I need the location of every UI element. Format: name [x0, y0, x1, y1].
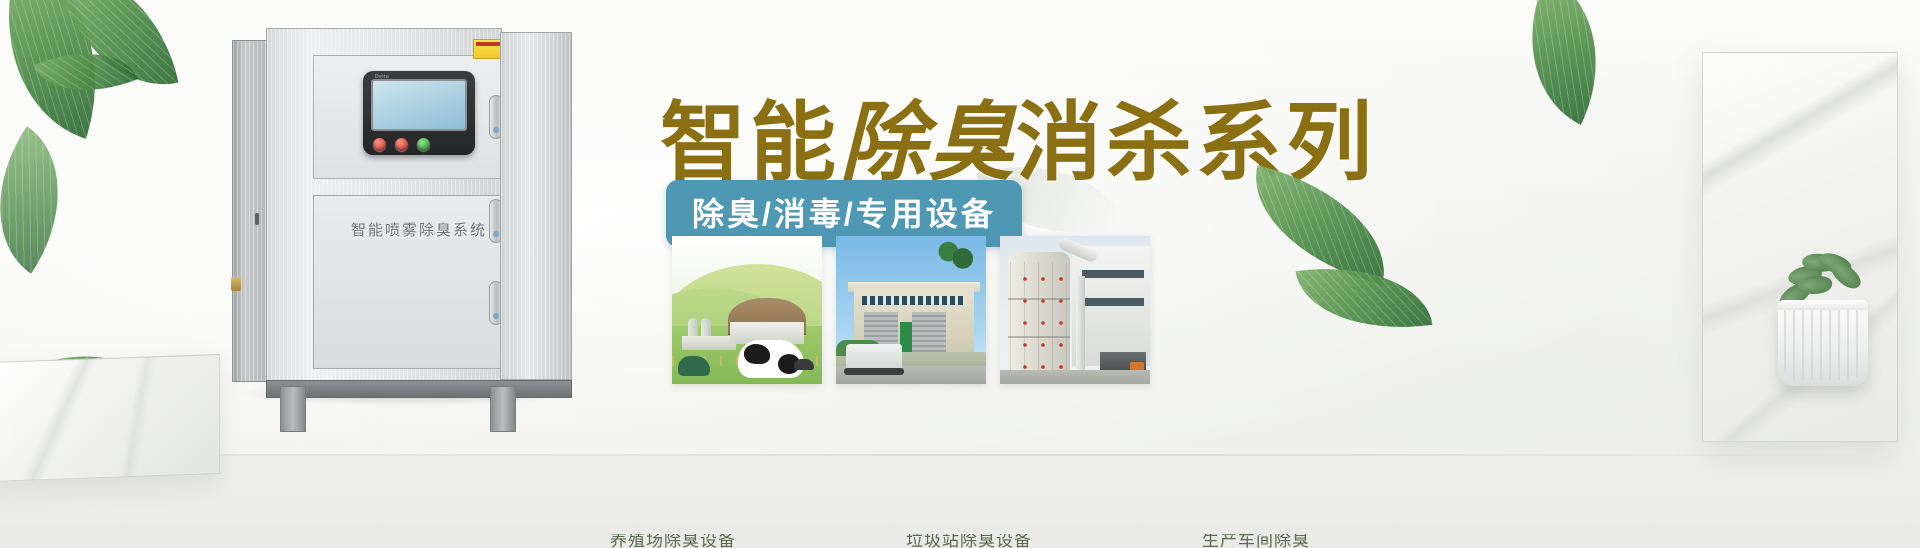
footer-caption-strip: 养殖场除臭设备 垃圾站除臭设备 生产车间除臭 [0, 512, 1920, 548]
plant-pot [1778, 300, 1868, 386]
footer-item[interactable]: 垃圾站除臭设备 [906, 534, 1032, 548]
indicator-red-button-2[interactable] [395, 138, 408, 151]
hmi-button-row[interactable] [373, 138, 430, 151]
odor-control-machine: Delta 智能喷雾除臭系统 [232, 28, 572, 388]
headline-part-3: 消杀系列 [1016, 92, 1376, 193]
headline-part-2: 除臭 [840, 92, 1016, 193]
scrubber-tower-thumb[interactable] [1000, 236, 1150, 384]
warning-label-icon [473, 39, 503, 59]
leaf-icon [1495, 0, 1634, 125]
marble-slab-left [0, 354, 220, 482]
farm-barn-cows-thumb[interactable] [672, 236, 822, 384]
hmi-brand-label: Delta [375, 74, 389, 80]
cabinet-hinge-icon [231, 277, 241, 291]
hmi-control-panel[interactable]: Delta [363, 71, 475, 155]
cabinet-lock-icon [255, 213, 259, 225]
headline-part-1: 智能 [660, 92, 840, 193]
cabinet-front-panel: Delta 智能喷雾除臭系统 [266, 28, 502, 384]
machine-leg [280, 386, 306, 432]
leaf-icon [0, 126, 98, 274]
cabinet-side-left [232, 40, 268, 382]
facility-truck-thumb[interactable] [836, 236, 986, 384]
floor-horizon-line [0, 454, 1920, 456]
thumbnail-gallery [672, 236, 1150, 384]
machine-leg [490, 386, 516, 432]
footer-item[interactable]: 养殖场除臭设备 [610, 534, 736, 548]
indicator-green-button[interactable] [417, 138, 430, 151]
product-banner: Delta 智能喷雾除臭系统 智能除臭消杀系列 除臭/消毒/专用设备 [0, 0, 1920, 548]
footer-item[interactable]: 生产车间除臭 [1202, 534, 1310, 548]
machine-plinth [266, 380, 572, 398]
cabinet-side-right [500, 32, 572, 380]
indicator-red-button[interactable] [373, 138, 386, 151]
hmi-screen[interactable] [371, 79, 467, 131]
